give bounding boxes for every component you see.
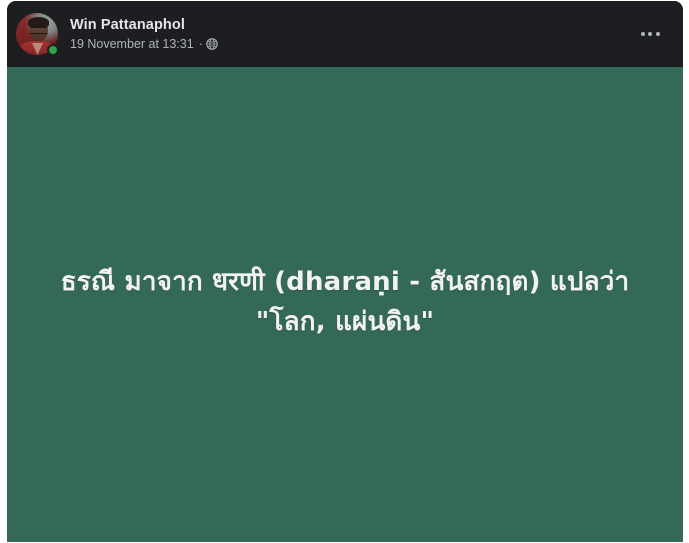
globe-icon[interactable] (206, 38, 218, 50)
avatar-hair (28, 17, 49, 27)
post-card: Win Pattanaphol 19 November at 13:31 · (7, 1, 683, 542)
avatar[interactable] (16, 13, 58, 55)
author-name[interactable]: Win Pattanaphol (70, 16, 633, 34)
online-status-indicator (47, 44, 59, 56)
post-text: ธรณี มาจาก धरणी (dharaṇi - สันสกฤต) แปลว… (40, 262, 650, 342)
meta-separator: · (199, 36, 203, 52)
post-header: Win Pattanaphol 19 November at 13:31 · (7, 1, 683, 67)
post-header-text: Win Pattanaphol 19 November at 13:31 · (70, 16, 633, 52)
post-timestamp[interactable]: 19 November at 13:31 (70, 36, 194, 52)
avatar-glasses (30, 27, 47, 34)
ellipsis-dot (648, 32, 652, 36)
ellipsis-dot (656, 32, 660, 36)
more-options-button[interactable] (633, 17, 667, 51)
post-body: ธรณี มาจาก धरणी (dharaṇi - สันสกฤต) แปลว… (7, 67, 683, 542)
post-meta-row: 19 November at 13:31 · (70, 36, 633, 52)
ellipsis-dot (641, 32, 645, 36)
